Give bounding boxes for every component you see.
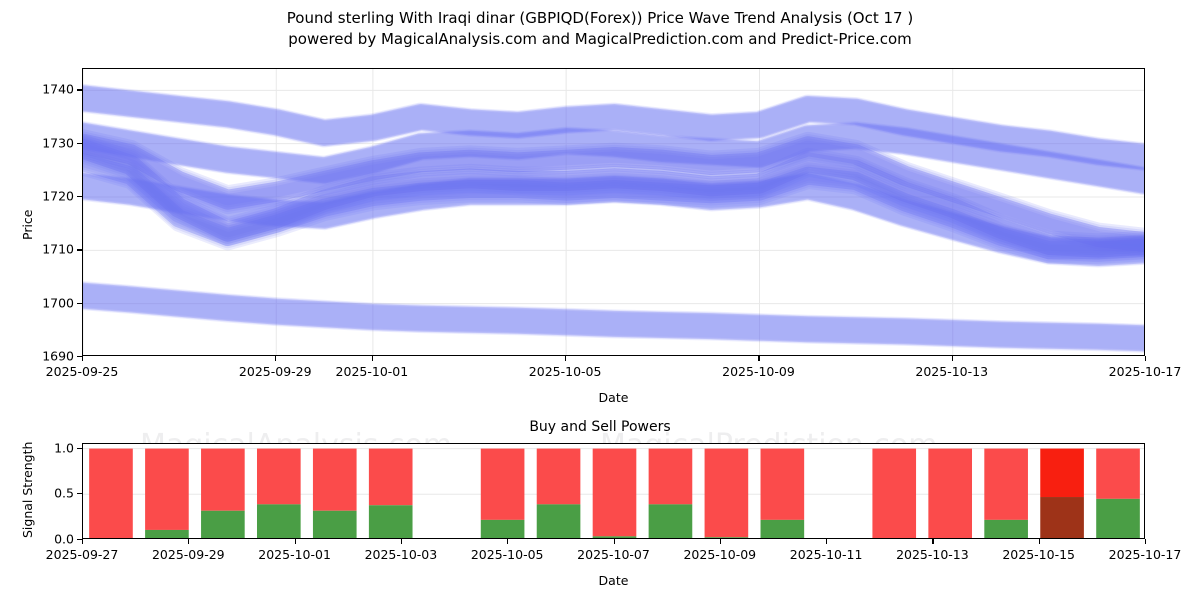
- x-tick-mark: [82, 356, 83, 361]
- x-tick-mark: [275, 356, 276, 361]
- y-tick-mark: [77, 493, 82, 494]
- bar-group[interactable]: [537, 449, 581, 539]
- x-tick-label: 2025-10-05: [471, 547, 544, 562]
- x-tick-mark: [82, 539, 83, 544]
- date-axis-label-bottom: Date: [82, 573, 1145, 588]
- bar-group[interactable]: [761, 449, 805, 539]
- bar-group[interactable]: [1096, 449, 1140, 539]
- x-tick-label: 2025-09-29: [239, 364, 312, 379]
- x-tick-label: 2025-10-03: [365, 547, 438, 562]
- x-tick-mark: [188, 539, 189, 544]
- x-tick-label: 2025-10-15: [1002, 547, 1075, 562]
- y-tick-label: 1730: [34, 135, 74, 150]
- x-tick-label: 2025-10-13: [896, 547, 969, 562]
- y-tick-label: 1690: [34, 349, 74, 364]
- title-line-2: powered by MagicalAnalysis.com and Magic…: [0, 29, 1200, 50]
- bar-group[interactable]: [145, 449, 189, 539]
- y-tick-label: 0.0: [38, 532, 74, 547]
- price-axis-label: Price: [20, 210, 35, 241]
- bar-group[interactable]: [593, 449, 637, 539]
- chart-page: Pound sterling With Iraqi dinar (GBPIQD(…: [0, 0, 1200, 600]
- y-tick-mark: [77, 448, 82, 449]
- y-tick-label: 1740: [34, 82, 74, 97]
- x-tick-label: 2025-09-27: [46, 547, 119, 562]
- x-tick-mark: [826, 539, 827, 544]
- x-tick-mark: [952, 356, 953, 361]
- x-tick-label: 2025-10-07: [577, 547, 650, 562]
- y-tick-mark: [77, 303, 82, 304]
- bar-group[interactable]: [313, 449, 357, 539]
- y-tick-label: 0.5: [38, 486, 74, 501]
- x-tick-mark: [565, 356, 566, 361]
- x-tick-mark: [932, 539, 933, 544]
- bar-group[interactable]: [1040, 449, 1084, 539]
- y-tick-mark: [77, 196, 82, 197]
- x-tick-label: 2025-10-09: [722, 364, 795, 379]
- x-tick-mark: [507, 539, 508, 544]
- x-tick-label: 2025-10-17: [1109, 547, 1182, 562]
- bar-group[interactable]: [481, 449, 525, 539]
- x-tick-label: 2025-09-25: [46, 364, 119, 379]
- bar-group[interactable]: [649, 449, 693, 539]
- x-tick-mark: [720, 539, 721, 544]
- x-tick-mark: [614, 539, 615, 544]
- y-tick-label: 1700: [34, 295, 74, 310]
- buy-sell-chart-title: Buy and Sell Powers: [0, 419, 1200, 435]
- y-tick-label: 1.0: [38, 440, 74, 455]
- y-tick-label: 1720: [34, 189, 74, 204]
- bar-group[interactable]: [928, 449, 972, 539]
- bar-group[interactable]: [984, 449, 1028, 539]
- title-line-1: Pound sterling With Iraqi dinar (GBPIQD(…: [0, 8, 1200, 29]
- x-tick-mark: [295, 539, 296, 544]
- price-wave-plot-area: [82, 68, 1145, 356]
- x-tick-mark: [1039, 539, 1040, 544]
- x-tick-mark: [1145, 539, 1146, 544]
- x-tick-label: 2025-10-05: [529, 364, 602, 379]
- date-axis-label-main: Date: [82, 390, 1145, 405]
- price-wave-svg: [83, 69, 1145, 356]
- bar-group[interactable]: [201, 449, 245, 539]
- page-title: Pound sterling With Iraqi dinar (GBPIQD(…: [0, 8, 1200, 50]
- bar-group[interactable]: [872, 449, 916, 539]
- x-tick-label: 2025-10-17: [1109, 364, 1182, 379]
- x-tick-mark: [758, 356, 759, 361]
- x-tick-label: 2025-10-11: [790, 547, 863, 562]
- buy-sell-plot-area: [82, 443, 1145, 539]
- x-tick-label: 2025-10-01: [336, 364, 409, 379]
- x-tick-mark: [1145, 356, 1146, 361]
- y-tick-mark: [77, 143, 82, 144]
- y-tick-mark: [77, 249, 82, 250]
- buy-sell-svg: [83, 444, 1145, 539]
- x-tick-label: 2025-10-09: [683, 547, 756, 562]
- x-tick-mark: [401, 539, 402, 544]
- x-tick-label: 2025-10-01: [258, 547, 331, 562]
- bar-group[interactable]: [257, 449, 301, 539]
- y-tick-mark: [77, 89, 82, 90]
- bar-group[interactable]: [89, 449, 133, 539]
- x-tick-mark: [372, 356, 373, 361]
- bar-group[interactable]: [705, 449, 749, 539]
- y-tick-label: 1710: [34, 242, 74, 257]
- bar-group[interactable]: [369, 449, 413, 539]
- signal-strength-axis-label: Signal Strength: [20, 442, 35, 538]
- x-tick-label: 2025-10-13: [915, 364, 988, 379]
- x-tick-label: 2025-09-29: [152, 547, 225, 562]
